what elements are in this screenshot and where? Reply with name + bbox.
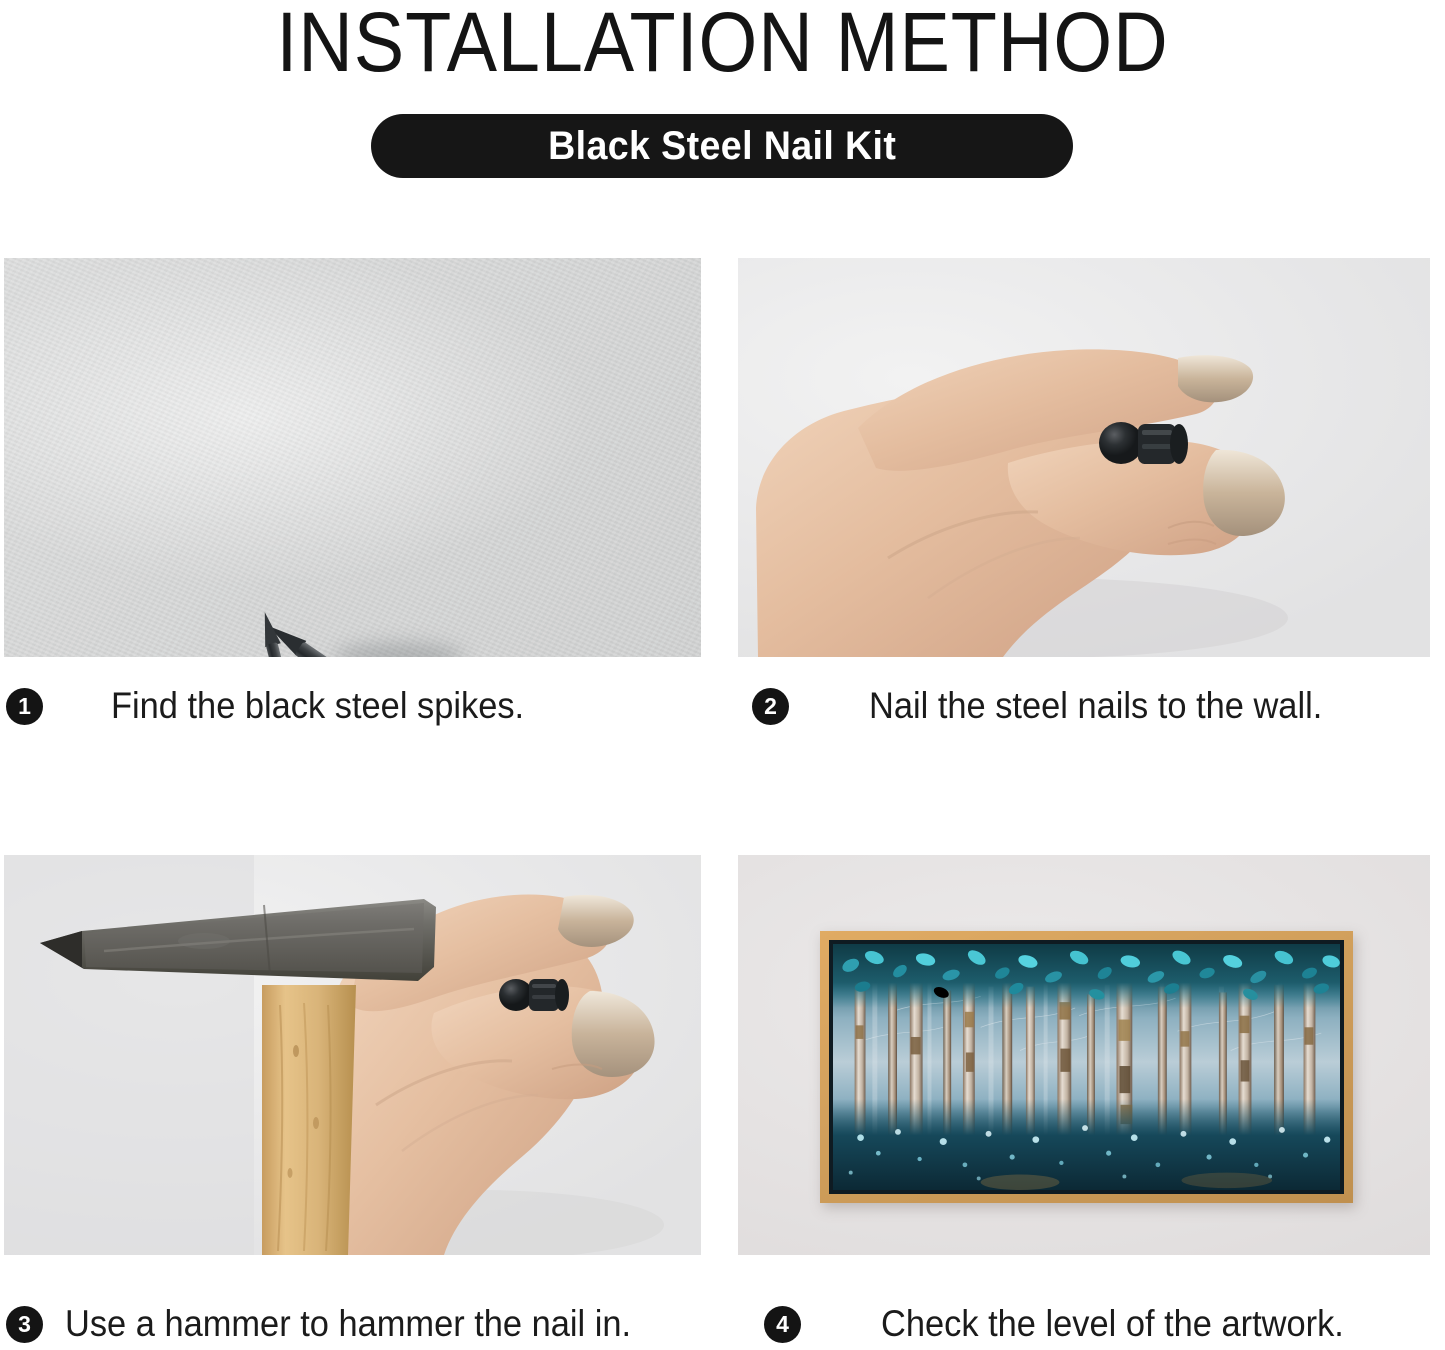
spike-shank bbox=[295, 641, 354, 657]
fingernail bbox=[1203, 450, 1285, 536]
fingernail bbox=[1178, 355, 1253, 402]
subtitle-label: Black Steel Nail Kit bbox=[548, 124, 896, 169]
spike-shank bbox=[266, 642, 296, 657]
step-caption-text: Use a hammer to hammer the nail in. bbox=[65, 1303, 631, 1345]
step-3-caption: 3 Use a hammer to hammer the nail in. bbox=[6, 1298, 674, 1350]
hand-illustration bbox=[738, 258, 1430, 657]
step-2-caption: 2 Nail the steel nails to the wall. bbox=[752, 680, 1356, 732]
step-caption-text: Nail the steel nails to the wall. bbox=[869, 685, 1322, 727]
step-number-badge: 4 bbox=[764, 1306, 801, 1343]
step-caption-text: Find the black steel spikes. bbox=[111, 685, 524, 727]
step-1-image bbox=[4, 258, 701, 657]
step-number-badge: 2 bbox=[752, 688, 789, 725]
artwork-inner-border bbox=[829, 940, 1344, 1194]
hammer-handle bbox=[262, 985, 356, 1255]
step-number-badge: 3 bbox=[6, 1306, 43, 1343]
page-title: INSTALLATION METHOD bbox=[72, 0, 1373, 91]
header: INSTALLATION METHOD Black Steel Nail Kit bbox=[0, 0, 1445, 200]
birch-forest-painting bbox=[833, 944, 1340, 1190]
step-caption-text: Check the level of the artwork. bbox=[881, 1303, 1344, 1345]
artwork-canvas bbox=[833, 944, 1340, 1190]
step-1-caption: 1 Find the black steel spikes. bbox=[6, 680, 555, 732]
artwork-frame bbox=[820, 931, 1353, 1203]
surface-texture bbox=[4, 258, 701, 657]
step-3-image bbox=[4, 855, 701, 1255]
black-steel-nail bbox=[499, 979, 569, 1011]
hammer-and-hand-illustration bbox=[4, 855, 701, 1255]
step-4-caption: 4 Check the level of the artwork. bbox=[764, 1298, 1379, 1350]
step-number-badge: 1 bbox=[6, 688, 43, 725]
fingernail bbox=[558, 895, 634, 947]
step-2-image bbox=[738, 258, 1430, 657]
step-4-image bbox=[738, 855, 1430, 1255]
spike-tip bbox=[257, 610, 281, 647]
black-steel-nail bbox=[1099, 422, 1188, 464]
subtitle-badge: Black Steel Nail Kit bbox=[371, 114, 1073, 178]
